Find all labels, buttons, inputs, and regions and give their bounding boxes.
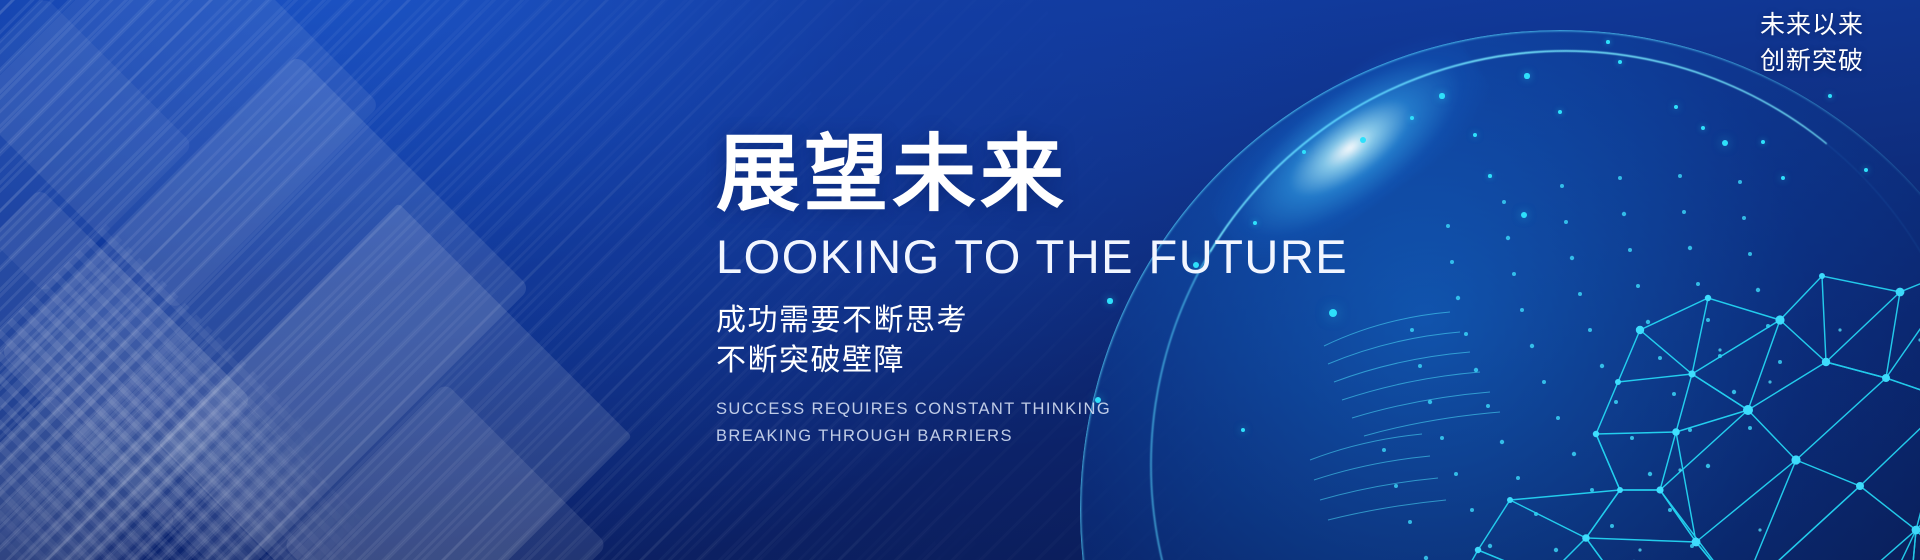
star-dot-icon: [1722, 140, 1729, 147]
corner-slogan-line1: 未来以来: [1760, 8, 1864, 44]
decorative-quad: [0, 0, 193, 293]
star-dot-icon: [1439, 93, 1444, 98]
star-dot-icon: [1828, 94, 1832, 98]
star-dot-icon: [1618, 60, 1622, 64]
page-title: 展望未来: [716, 132, 1348, 218]
tagline-cn: 成功需要不断思考 不断突破壁障: [716, 301, 1348, 380]
star-dot-icon: [1864, 168, 1868, 172]
corner-slogan: 未来以来 创新突破: [1760, 8, 1864, 79]
decorative-quad: [0, 0, 380, 310]
tagline-en: SUCCESS REQUIRES CONSTANT THINKING BREAK…: [716, 396, 1348, 449]
hero-banner: 未来以来 创新突破 展望未来 LOOKING TO THE FUTURE 成功需…: [0, 0, 1920, 560]
corner-slogan-line2: 创新突破: [1760, 44, 1864, 80]
star-dot-icon: [1410, 116, 1414, 120]
star-dot-icon: [1701, 126, 1705, 130]
star-dot-icon: [1524, 73, 1529, 78]
decorative-quad: [282, 382, 607, 560]
decorative-quad: [0, 393, 177, 560]
dot-grid-pattern: [0, 332, 388, 560]
star-dot-icon: [1558, 110, 1562, 114]
decorative-quad: [158, 203, 632, 560]
tagline-cn-line1: 成功需要不断思考: [716, 301, 1348, 341]
tagline-en-line1: SUCCESS REQUIRES CONSTANT THINKING: [716, 396, 1348, 423]
star-dot-icon: [1473, 133, 1477, 137]
page-subtitle-en: LOOKING TO THE FUTURE: [716, 232, 1348, 281]
star-dot-icon: [1488, 174, 1492, 178]
hero-copy-block: 展望未来 LOOKING TO THE FUTURE 成功需要不断思考 不断突破…: [716, 132, 1348, 450]
decorative-quad: [0, 188, 252, 560]
dot-grid-pattern: [0, 224, 346, 560]
star-dot-icon: [1606, 40, 1610, 44]
tagline-en-line2: BREAKING THROUGH BARRIERS: [716, 423, 1348, 450]
star-dot-icon: [1360, 137, 1366, 143]
star-dot-icon: [1674, 105, 1679, 110]
decorative-quad: [0, 55, 530, 560]
star-dot-icon: [1761, 140, 1765, 144]
tagline-cn-line2: 不断突破壁障: [716, 341, 1348, 381]
star-dot-icon: [1781, 176, 1786, 181]
star-dot-icon: [1521, 212, 1527, 218]
